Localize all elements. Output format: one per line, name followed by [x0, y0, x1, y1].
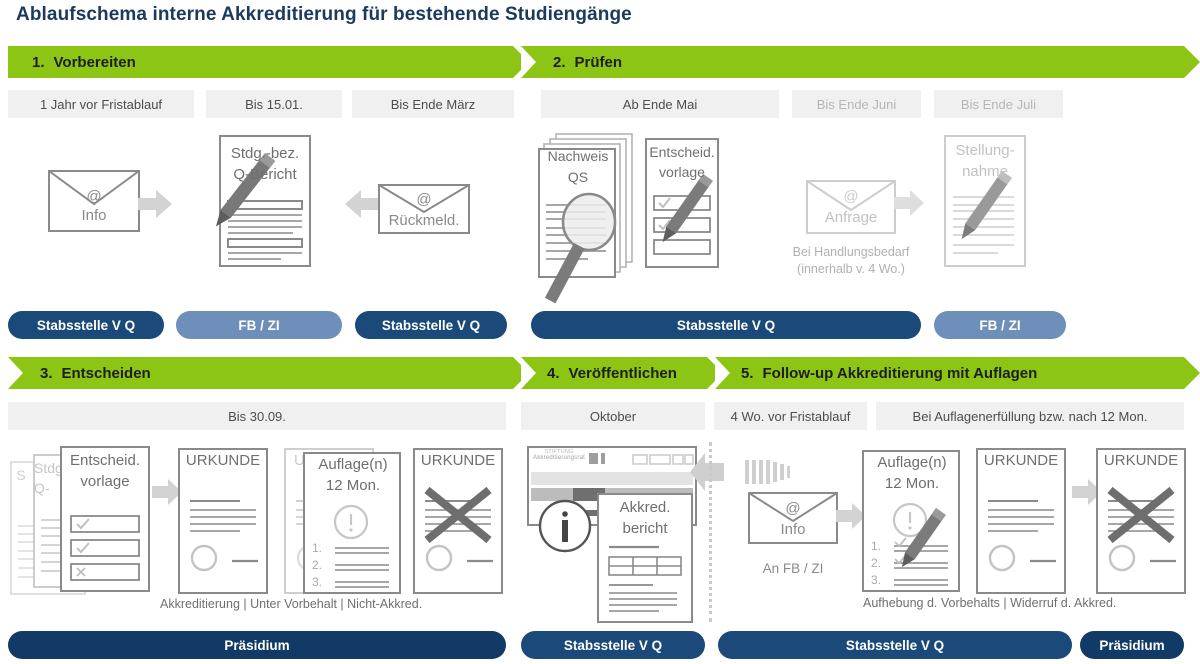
- phase-banner-3[interactable]: 3. Entscheiden: [8, 357, 513, 389]
- document-auflagen-icon: [303, 452, 403, 594]
- entscheid-title-line1: Entscheid.: [645, 144, 719, 160]
- auflagen-item-1: 1.: [308, 541, 326, 555]
- datebox-9: 4 Wo. vor Fristablauf: [714, 402, 867, 430]
- flowchart-page: Ablaufschema interne Akkreditierung für …: [0, 0, 1200, 664]
- role-pill-7[interactable]: Stabsstelle V Q: [521, 631, 705, 659]
- envelope-info-label: Info: [48, 207, 140, 224]
- auflagen-item-3: 3.: [308, 575, 326, 589]
- phase-label: Veröffentlichen: [569, 365, 677, 382]
- banner-arrow-head-icon: [1184, 46, 1200, 78]
- datebox-7: Bis 30.09.: [8, 402, 506, 430]
- urkunde-label-1: URKUNDE: [178, 452, 268, 469]
- role-pill-9[interactable]: Präsidium: [1080, 631, 1184, 659]
- banner-notch-icon: [8, 357, 23, 389]
- page-title: Ablaufschema interne Akkreditierung für …: [16, 4, 632, 26]
- phase-label: Prüfen: [575, 54, 623, 71]
- role-pill-4[interactable]: Stabsstelle V Q: [531, 311, 921, 339]
- phase-banner-4[interactable]: 4. Veröffentlichen: [521, 357, 707, 389]
- arrow-left-big-icon: [690, 453, 724, 491]
- envelope-info-label: Info: [748, 521, 838, 538]
- document-urkunde-icon: [976, 448, 1068, 594]
- datebox-8: Oktober: [521, 402, 705, 430]
- document-urkunde-cancelled-icon: [1096, 448, 1188, 594]
- envelope-at-symbol: @: [748, 500, 838, 517]
- arrow-left-icon: [345, 190, 379, 218]
- banner-arrow-head-icon: [1184, 357, 1200, 389]
- phase-number: 1.: [32, 54, 45, 71]
- auflagen2-item-2: 2.: [867, 556, 885, 570]
- envelope-at-symbol: @: [806, 188, 896, 205]
- auflagen2-line1: Auflage(n): [862, 454, 962, 471]
- qbericht-title-line1: Stdg.-bez.: [221, 145, 309, 162]
- document-urkunde-icon: [178, 448, 270, 594]
- auflagen2-line2: 12 Mon.: [862, 475, 962, 492]
- auflagen-line1: Auflage(n): [303, 456, 403, 473]
- urkunde-cancelled-label-2: URKUNDE: [1096, 452, 1186, 469]
- auflagen-line2: 12 Mon.: [303, 477, 403, 494]
- datebox-3: Bis Ende März: [352, 90, 514, 118]
- browser-brand-line2: Akkreditierungsrat: [531, 455, 587, 461]
- entscheid-title-line2: vorlage: [645, 164, 719, 180]
- phase-number: 2.: [553, 54, 566, 71]
- stellungnahme-line2: nahme: [944, 163, 1026, 180]
- phase-banner-1[interactable]: 1. Vorbereiten: [8, 46, 513, 78]
- role-pill-3[interactable]: Stabsstelle V Q: [355, 311, 507, 339]
- phase-label: Entscheiden: [62, 365, 151, 382]
- anfrage-note-line2: (innerhalb v. 4 Wo.): [778, 262, 924, 276]
- results-phase-5: Aufhebung d. Vorbehalts | Widerruf d. Ak…: [863, 596, 1116, 610]
- info-note: An FB / ZI: [748, 561, 838, 576]
- auflagen2-item-3: 3.: [867, 573, 885, 587]
- envelope-at-symbol: @: [48, 188, 140, 205]
- results-phase-3: Akkreditierung | Unter Vorbehalt | Nicht…: [160, 597, 422, 611]
- phase-number: 4.: [547, 365, 560, 382]
- datebox-5: Bis Ende Juni: [792, 90, 921, 118]
- banner-notch-icon: [521, 46, 536, 78]
- auflagen2-item-1: 1.: [867, 539, 885, 553]
- entscheid-title-line2: vorlage: [60, 473, 150, 490]
- banner-notch-icon: [521, 357, 536, 389]
- akkred-bericht-line2: bericht: [597, 520, 693, 537]
- akkred-bericht-line1: Akkred.: [597, 499, 693, 516]
- datebox-2: Bis 15.01.: [206, 90, 342, 118]
- datebox-4: Ab Ende Mai: [541, 90, 779, 118]
- arrow-right-icon: [138, 190, 172, 218]
- stack-back-label: S: [12, 467, 30, 483]
- stellungnahme-line1: Stellung-: [944, 142, 1026, 159]
- envelope-at-symbol: @: [378, 191, 470, 208]
- entscheid-title-line1: Entscheid.: [60, 452, 150, 469]
- phase-number: 5.: [741, 365, 754, 382]
- motion-lines-icon: [745, 458, 793, 486]
- role-pill-8[interactable]: Stabsstelle V Q: [718, 631, 1072, 659]
- document-auflagen-icon: [862, 450, 972, 592]
- urkunde-cancelled-label: URKUNDE: [413, 452, 503, 469]
- phase-banner-5[interactable]: 5. Follow-up Akkreditierung mit Auflagen: [715, 357, 1184, 389]
- arrow-right-icon: [894, 190, 924, 216]
- phase-number: 3.: [40, 365, 53, 382]
- banner-notch-icon: [715, 357, 730, 389]
- role-pill-6[interactable]: Präsidium: [8, 631, 506, 659]
- datebox-6: Bis Ende Juli: [934, 90, 1063, 118]
- nachweis-title-line1: Nachweis: [540, 148, 616, 164]
- role-pill-1[interactable]: Stabsstelle V Q: [8, 311, 164, 339]
- info-circle-icon: [538, 499, 594, 555]
- envelope-anfrage-label: Anfrage: [806, 209, 896, 226]
- phase-label: Vorbereiten: [54, 54, 136, 71]
- role-pill-5[interactable]: FB / ZI: [934, 311, 1066, 339]
- auflagen-item-2: 2.: [308, 558, 326, 572]
- phase-label: Follow-up Akkreditierung mit Auflagen: [763, 365, 1038, 382]
- envelope-rueckmeldung-label: Rückmeld.: [378, 212, 470, 229]
- urkunde-label-2: URKUNDE: [976, 452, 1066, 469]
- anfrage-note-line1: Bei Handlungsbedarf: [778, 245, 924, 259]
- datebox-10: Bei Auflagenerfüllung bzw. nach 12 Mon.: [876, 402, 1184, 430]
- datebox-1: 1 Jahr vor Fristablauf: [8, 90, 194, 118]
- document-urkunde-cancelled-icon: [413, 448, 505, 594]
- nachweis-title-line2: QS: [540, 169, 616, 185]
- phase-banner-2[interactable]: 2. Prüfen: [521, 46, 1184, 78]
- section-divider: [709, 442, 712, 622]
- qbericht-title-line2: Q-Bericht: [221, 166, 309, 183]
- role-pill-2[interactable]: FB / ZI: [176, 311, 342, 339]
